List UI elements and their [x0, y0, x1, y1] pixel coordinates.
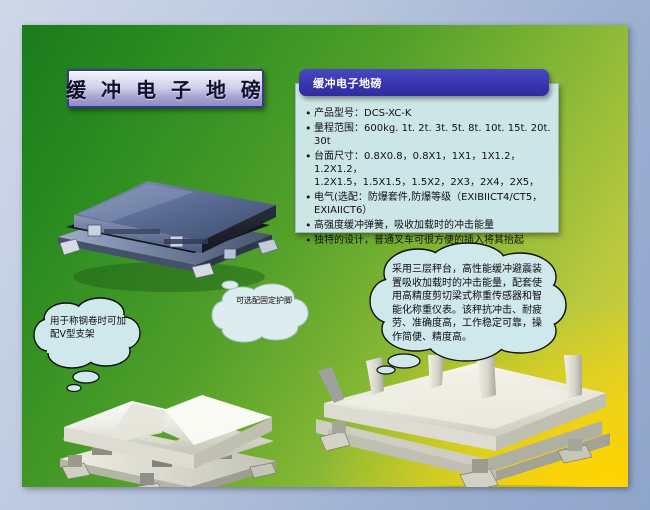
spec-item-text: 产品型号：DCS-XC-K — [314, 107, 563, 120]
callout-cloud-left-text: 用于称钢卷时可加配V型支架 — [50, 315, 126, 341]
spec-list-item: • 台面尺寸：0.8X0.8，0.8X1，1X1，1X1.2，1.2X1.2， … — [305, 150, 563, 189]
spec-list-item: • 高强度缓冲弹簧，吸收加载时的冲击能量 — [305, 219, 563, 232]
spec-panel-header: 缓冲电子地磅 — [299, 69, 549, 96]
callout-cloud-small: 可选配固定护脚 — [214, 281, 308, 355]
spec-item-text: 台面尺寸：0.8X0.8，0.8X1，1X1，1X1.2，1.2X1.2， 1.… — [314, 150, 563, 189]
bullet-icon: • — [305, 107, 314, 120]
title-plaque-text: 缓 冲 电 子 地 磅 — [66, 74, 265, 103]
content-board: 缓 冲 电 子 地 磅 缓冲电子地磅 • 产品型号：DCS-XC-K • 量程范… — [22, 25, 628, 487]
callout-cloud-left: 用于称钢卷时可加配V型支架 — [34, 293, 140, 391]
title-plaque: 缓 冲 电 子 地 磅 — [67, 69, 264, 108]
spec-item-text: 量程范围：600kg. 1t. 2t. 3t. 5t. 8t. 10t. 15t… — [314, 122, 563, 148]
callout-cloud-main-text: 采用三层秤台，高性能缓冲避震装置吸收加载时的冲击能量，配套使用高精度剪切梁式称重… — [392, 263, 548, 344]
spec-list-item: • 产品型号：DCS-XC-K — [305, 107, 563, 120]
spec-item-text: 电气(选配：防爆套件,防爆等级（EXIBIICT4/CT5， EXIAIICT6… — [314, 191, 563, 217]
bullet-icon: • — [305, 122, 314, 135]
bullet-icon: • — [305, 150, 314, 163]
bullet-icon: • — [305, 219, 314, 232]
long-platform-photo — [310, 355, 628, 487]
spec-list-item: • 电气(选配：防爆套件,防爆等级（EXIBIICT4/CT5， EXIAIIC… — [305, 191, 563, 217]
spec-list: • 产品型号：DCS-XC-K • 量程范围：600kg. 1t. 2t. 3t… — [305, 107, 563, 249]
bullet-icon: • — [305, 191, 314, 204]
blue-platform-photo — [44, 167, 282, 297]
spec-item-text: 高强度缓冲弹簧，吸收加载时的冲击能量 — [314, 219, 563, 232]
slide-canvas: 缓 冲 电 子 地 磅 缓冲电子地磅 • 产品型号：DCS-XC-K • 量程范… — [0, 0, 650, 510]
callout-cloud-small-text: 可选配固定护脚 — [236, 295, 292, 306]
bullet-icon: • — [305, 234, 314, 247]
white-v-platform-photo — [44, 383, 284, 487]
spec-list-item: • 量程范围：600kg. 1t. 2t. 3t. 5t. 8t. 10t. 1… — [305, 122, 563, 148]
callout-cloud-main: 采用三层秤台，高性能缓冲避震装置吸收加载时的冲击能量，配套使用高精度剪切梁式称重… — [370, 243, 566, 371]
spec-panel-header-text: 缓冲电子地磅 — [299, 75, 382, 91]
